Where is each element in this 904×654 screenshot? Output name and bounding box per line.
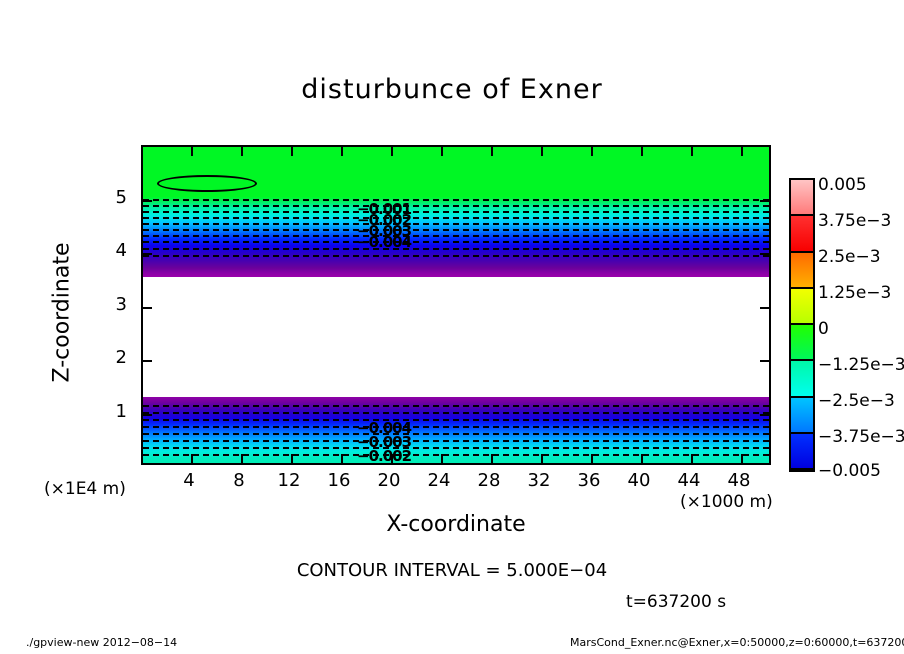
contour-interval-text: CONTOUR INTERVAL = 5.000E−04 [0,560,904,581]
contour-line [143,217,769,219]
contour-line [143,211,769,213]
x-tick-48 [741,454,743,463]
x-ticklabel-36: 36 [564,470,614,491]
contour-label: −0.004 [357,233,411,251]
x-axis-label: X-coordinate [141,512,771,537]
x-ticklabel-4: 4 [164,470,214,491]
colorbar-label-4: 0 [818,319,829,339]
contour-label: −0.002 [357,447,411,465]
colorbar-segment-8 [791,180,813,216]
colorbar-label-8: −0.005 [818,461,881,481]
y-ticklabel-3: 3 [93,294,127,315]
x-ticklabel-32: 32 [514,470,564,491]
contour-line [143,412,769,414]
contour-line [143,255,769,257]
x-tick-top-20 [391,147,393,156]
page-title: disturbunce of Exner [0,74,904,105]
colorbar-label-5: −1.25e−3 [818,355,904,375]
colorbar-label-3: 1.25e−3 [818,283,891,303]
y-axis-label: Z-coordinate [50,213,75,413]
x-tick-20 [391,454,393,463]
x-ticklabel-12: 12 [264,470,314,491]
x-ticklabel-8: 8 [214,470,264,491]
contour-line [143,235,769,237]
y-tick-1 [143,414,152,416]
y-ticklabel-2: 2 [93,347,127,368]
colorbar [789,178,815,472]
colorbar-label-2: 2.5e−3 [818,247,881,267]
x-ticklabel-48: 48 [714,470,764,491]
x-tick-24 [441,454,443,463]
contour-line [143,229,769,231]
x-tick-top-16 [341,147,343,156]
x-tick-top-4 [191,147,193,156]
x-ticklabel-40: 40 [614,470,664,491]
x-ticklabel-28: 28 [464,470,514,491]
x-tick-16 [341,454,343,463]
colorbar-segment-6 [791,253,813,289]
y-tick-right-3 [760,307,769,309]
x-tick-32 [541,454,543,463]
colorbar-segment-2 [791,398,813,434]
colorbar-label-6: −2.5e−3 [818,391,895,411]
contour-line [143,241,769,243]
contour-line [143,440,769,442]
contour-line [143,454,769,456]
contour-line [143,223,769,225]
x-ticklabel-16: 16 [314,470,364,491]
x-tick-top-12 [291,147,293,156]
x-tick-36 [591,454,593,463]
footer-dataset: MarsCond_Exner.nc@Exner,x=0:50000,z=0:60… [570,636,904,649]
x-tick-40 [641,454,643,463]
colorbar-segment-5 [791,289,813,325]
time-annotation: t=637200 s [626,592,726,612]
y-axis-unit: (×1E4 m) [44,479,126,499]
x-ticklabel-44: 44 [664,470,714,491]
colorbar-segment-1 [791,434,813,470]
contour-line [143,199,769,201]
y-tick-4 [143,253,152,255]
y-tick-right-1 [760,414,769,416]
closed-contour [157,175,257,192]
x-axis-unit: (×1000 m) [680,492,773,512]
x-tick-28 [491,454,493,463]
y-ticklabel-1: 1 [93,401,127,422]
contour-line [143,205,769,207]
x-tick-8 [241,454,243,463]
contour-line [143,447,769,449]
contour-line [143,433,769,435]
y-ticklabel-5: 5 [93,187,127,208]
x-ticklabel-24: 24 [414,470,464,491]
contour-line [143,419,769,421]
x-ticklabel-20: 20 [364,470,414,491]
y-ticklabel-4: 4 [93,240,127,261]
y-tick-3 [143,307,152,309]
colorbar-segment-7 [791,216,813,252]
x-tick-top-8 [241,147,243,156]
x-tick-top-36 [591,147,593,156]
colorbar-segment-4 [791,325,813,361]
footer-command: ./gpview-new 2012−08−14 [26,636,177,649]
x-tick-top-24 [441,147,443,156]
y-tick-right-5 [760,200,769,202]
x-tick-12 [291,454,293,463]
contour-line [143,426,769,428]
contour-line [143,248,769,250]
contour-line [143,405,769,407]
y-tick-right-4 [760,253,769,255]
x-tick-top-40 [641,147,643,156]
mid-blank-region [143,277,769,397]
x-tick-top-32 [541,147,543,156]
colorbar-label-0: 0.005 [818,175,867,195]
x-tick-top-48 [741,147,743,156]
colorbar-label-1: 3.75e−3 [818,211,891,231]
colorbar-segment-3 [791,361,813,397]
x-tick-44 [691,454,693,463]
y-tick-2 [143,360,152,362]
x-tick-4 [191,454,193,463]
x-tick-top-44 [691,147,693,156]
plot-area: −0.001 −0.002 −0.003 −0.004 −0.004 −0.00… [141,145,771,465]
y-tick-5 [143,200,152,202]
x-tick-top-28 [491,147,493,156]
colorbar-label-7: −3.75e−3 [818,427,904,447]
y-tick-right-2 [760,360,769,362]
